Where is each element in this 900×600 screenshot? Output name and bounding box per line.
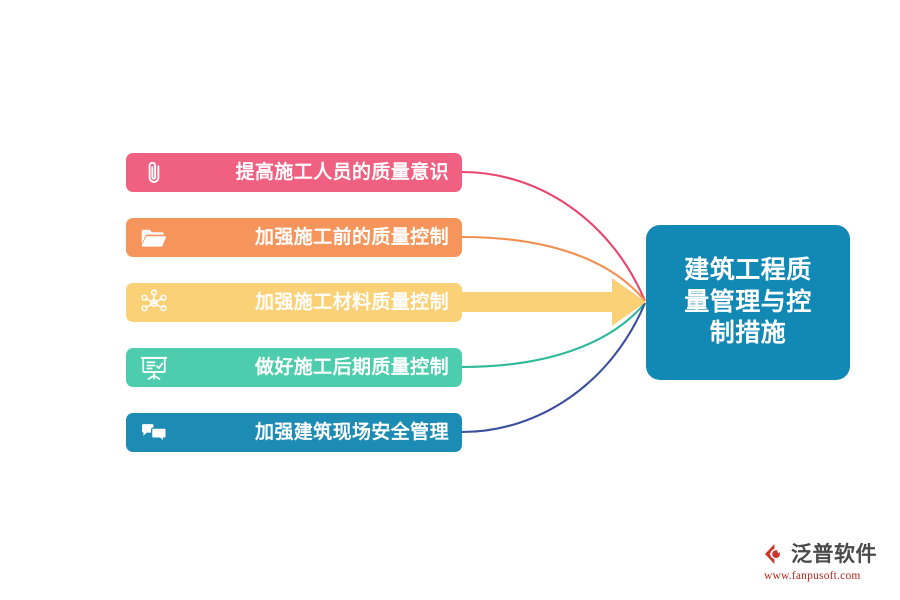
- network-nodes-icon: [138, 287, 170, 319]
- item-label-1: 提高施工人员的质量意识: [170, 163, 449, 182]
- brand-row: 泛普软件: [762, 540, 890, 568]
- item-bar-5[interactable]: 加强建筑现场安全管理: [126, 413, 462, 452]
- central-topic-line-1: 建筑工程质: [684, 255, 812, 287]
- brand-name: 泛普软件: [791, 544, 877, 565]
- brand-watermark: 泛普软件 www.fanpusoft.com: [762, 540, 890, 586]
- connector-curve-5: [462, 303, 645, 432]
- folder-icon: [138, 222, 170, 254]
- central-topic-line-2: 量管理与控: [684, 287, 812, 319]
- fanpu-logo-icon: [762, 541, 788, 567]
- central-topic-line-3: 制措施: [684, 318, 812, 350]
- item-label-2: 加强施工前的质量控制: [170, 228, 449, 247]
- connector-curve-2: [462, 237, 645, 301]
- item-label-3: 加强施工材料质量控制: [170, 293, 449, 312]
- presentation-board-icon: [138, 352, 170, 384]
- item-bar-2[interactable]: 加强施工前的质量控制: [126, 218, 462, 257]
- paperclip-icon: [138, 157, 170, 189]
- central-topic-box[interactable]: 建筑工程质 量管理与控 制措施: [646, 225, 850, 380]
- connector-curve-4: [462, 303, 645, 367]
- connector-curve-1: [462, 172, 645, 301]
- item-label-4: 做好施工后期质量控制: [170, 358, 449, 377]
- item-bar-1[interactable]: 提高施工人员的质量意识: [126, 153, 462, 192]
- item-label-5: 加强建筑现场安全管理: [170, 423, 449, 442]
- item-bar-4[interactable]: 做好施工后期质量控制: [126, 348, 462, 387]
- diagram-canvas: 提高施工人员的质量意识 加强施工前的质量控制: [0, 0, 900, 600]
- item-bar-3[interactable]: 加强施工材料质量控制: [126, 283, 462, 322]
- connector-arrow-3: [462, 278, 646, 326]
- chat-bubbles-icon: [138, 417, 170, 449]
- brand-url: www.fanpusoft.com: [762, 570, 890, 582]
- central-topic-title: 建筑工程质 量管理与控 制措施: [684, 255, 812, 350]
